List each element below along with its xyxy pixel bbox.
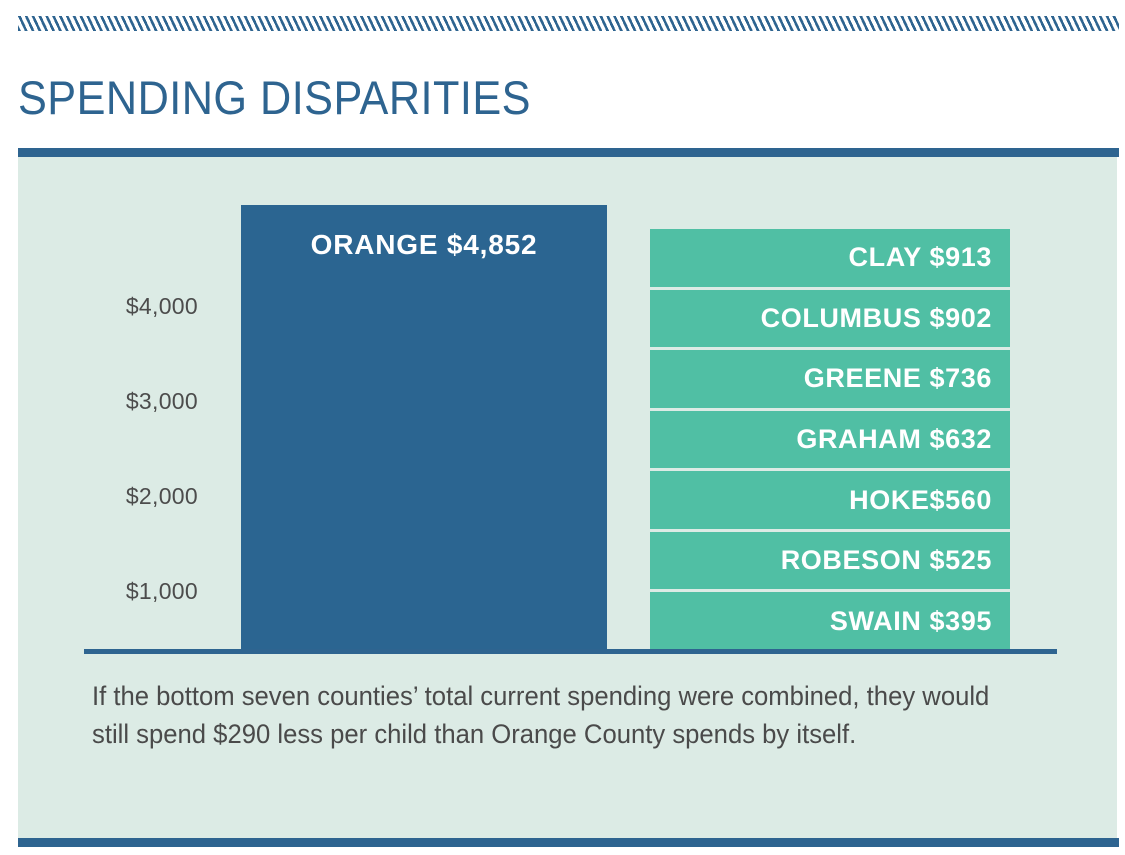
bar-orange-county-label: ORANGE $4,852 [241, 229, 607, 261]
x-axis-baseline [84, 649, 1057, 654]
stacked-bar-bottom-seven: CLAY $913 COLUMBUS $902 GREENE $736 GRAH… [650, 229, 1010, 650]
stack-segment-columbus: COLUMBUS $902 [650, 290, 1010, 351]
y-axis-tick-2000: $2,000 [18, 483, 198, 510]
page-title: SPENDING DISPARITIES [18, 72, 531, 124]
stack-segment-greene: GREENE $736 [650, 350, 1010, 411]
stack-segment-swain-label: SWAIN $395 [830, 608, 992, 635]
y-axis-labels: $4,000 $3,000 $2,000 $1,000 [18, 157, 198, 657]
infographic-root: SPENDING DISPARITIES $4,000 $3,000 $2,00… [0, 0, 1125, 855]
stack-segment-hoke: HOKE$560 [650, 471, 1010, 532]
diagonal-hatch-rule-icon [18, 16, 1119, 31]
stack-segment-robeson-label: ROBESON $525 [781, 547, 992, 574]
stack-segment-graham-label: GRAHAM $632 [796, 426, 992, 453]
bar-orange-county: ORANGE $4,852 [241, 205, 607, 650]
stack-segment-swain: SWAIN $395 [650, 592, 1010, 650]
stack-segment-hoke-label: HOKE$560 [849, 487, 992, 514]
divider-top [18, 148, 1119, 157]
stack-segment-graham: GRAHAM $632 [650, 411, 1010, 472]
chart-caption: If the bottom seven counties’ total curr… [92, 677, 1023, 753]
stack-segment-clay: CLAY $913 [650, 229, 1010, 290]
y-axis-tick-4000: $4,000 [18, 293, 198, 320]
y-axis-tick-3000: $3,000 [18, 388, 198, 415]
stack-segment-clay-label: CLAY $913 [849, 244, 993, 271]
chart-panel: $4,000 $3,000 $2,000 $1,000 ORANGE $4,85… [18, 157, 1117, 838]
stack-segment-greene-label: GREENE $736 [804, 365, 992, 392]
y-axis-tick-1000: $1,000 [18, 578, 198, 605]
stack-segment-robeson: ROBESON $525 [650, 532, 1010, 593]
divider-bottom [18, 838, 1119, 847]
bar-chart: $4,000 $3,000 $2,000 $1,000 ORANGE $4,85… [18, 157, 1117, 657]
stack-segment-columbus-label: COLUMBUS $902 [761, 305, 992, 332]
